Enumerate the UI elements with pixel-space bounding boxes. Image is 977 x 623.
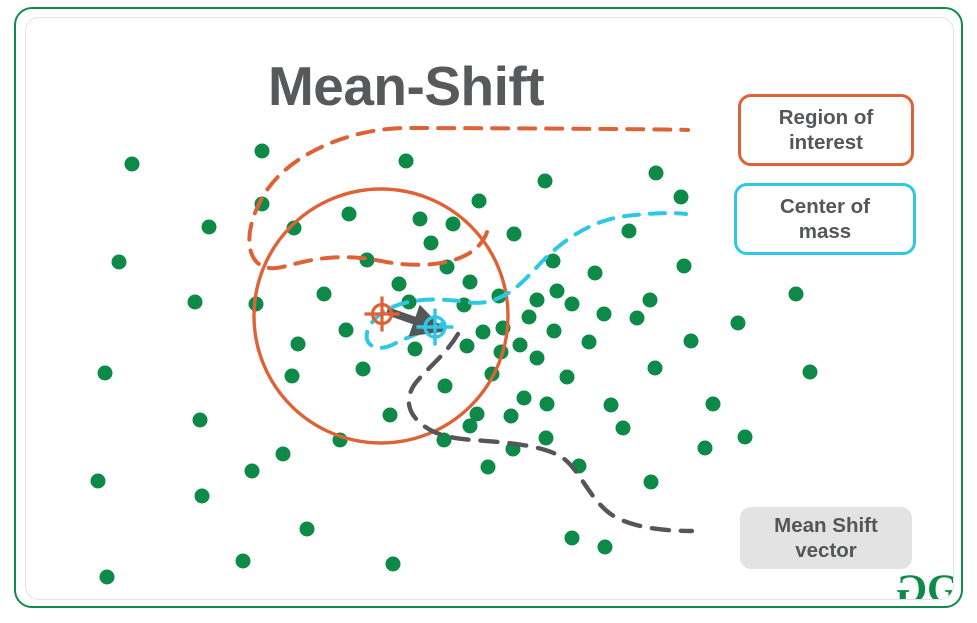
data-point [522,310,537,325]
data-point [392,277,407,292]
data-point [565,531,580,546]
data-point [644,475,659,490]
data-point [339,323,354,338]
data-point [630,311,645,326]
data-point [438,379,453,394]
data-point [188,295,203,310]
data-point [91,474,106,489]
data-point [738,430,753,445]
data-point [539,431,554,446]
data-point [684,334,699,349]
data-point [622,224,637,239]
data-point [504,409,519,424]
data-point [517,391,532,406]
data-point [550,284,565,299]
data-point [648,361,663,376]
data-point [100,570,115,585]
data-point [342,207,357,222]
data-point [547,324,562,339]
callout-roi-line1: Region of [779,106,874,129]
data-point [193,413,208,428]
scatter-points-layer [91,144,827,585]
data-point [643,293,658,308]
illustration-card: Mean-Shift Region of interest Center of … [25,17,954,600]
data-point [255,144,270,159]
data-point [540,397,555,412]
data-point [677,259,692,274]
data-point [472,194,487,209]
data-point [649,166,664,181]
data-point [460,339,475,354]
data-point [112,255,127,270]
center-of-mass-leader-line [367,213,686,348]
data-point [588,266,603,281]
callout-center-of-mass[interactable]: Center of mass [734,183,916,255]
data-point [538,174,553,189]
data-point [789,287,804,302]
window-center-crosshair-icon [364,296,399,331]
data-point [98,366,113,381]
data-point [413,212,428,227]
data-point [202,220,217,235]
callout-region-of-interest[interactable]: Region of interest [738,94,914,166]
data-point [674,190,689,205]
callout-mean-shift-vector[interactable]: Mean Shift vector [740,507,912,569]
region-of-interest-leader-line [249,128,688,268]
data-point [481,460,496,475]
data-point [291,337,306,352]
data-point [706,397,721,412]
data-point [383,408,398,423]
geeksforgeeks-logo: GG [898,567,954,600]
data-point [446,217,461,232]
page-title: Mean-Shift [26,58,786,116]
callout-com-line1: Center of [780,195,870,218]
data-point [463,275,478,290]
data-point [598,540,613,555]
data-point [125,157,140,172]
data-point [195,489,210,504]
data-point [530,293,545,308]
callout-roi-line2: interest [789,131,863,154]
center-of-mass-crosshair-icon [417,309,454,346]
data-point [424,236,439,251]
screenshot-canvas: Mean-Shift Region of interest Center of … [0,0,977,623]
data-point [386,557,401,572]
data-point [399,154,414,169]
data-point [803,365,818,380]
data-point [356,362,371,377]
data-point [616,421,631,436]
data-point [698,441,713,456]
data-point [731,316,746,331]
data-point [565,297,580,312]
data-point [285,369,300,384]
data-point [507,227,522,242]
data-point [560,370,575,385]
data-point [408,342,423,357]
data-point [597,307,612,322]
data-point [245,464,260,479]
logo-glyph-left: G [898,567,927,600]
data-point [513,338,528,353]
data-point [276,447,291,462]
data-point [530,351,545,366]
data-point [582,335,597,350]
data-point [476,325,491,340]
callout-msv-line2: vector [795,539,857,562]
data-point [236,554,251,569]
callout-com-line2: mass [799,220,851,243]
logo-glyph-right: G [927,566,954,600]
callout-msv-line1: Mean Shift [774,514,878,537]
data-point [317,287,332,302]
data-point [604,398,619,413]
data-point [463,419,478,434]
data-point [300,522,315,537]
